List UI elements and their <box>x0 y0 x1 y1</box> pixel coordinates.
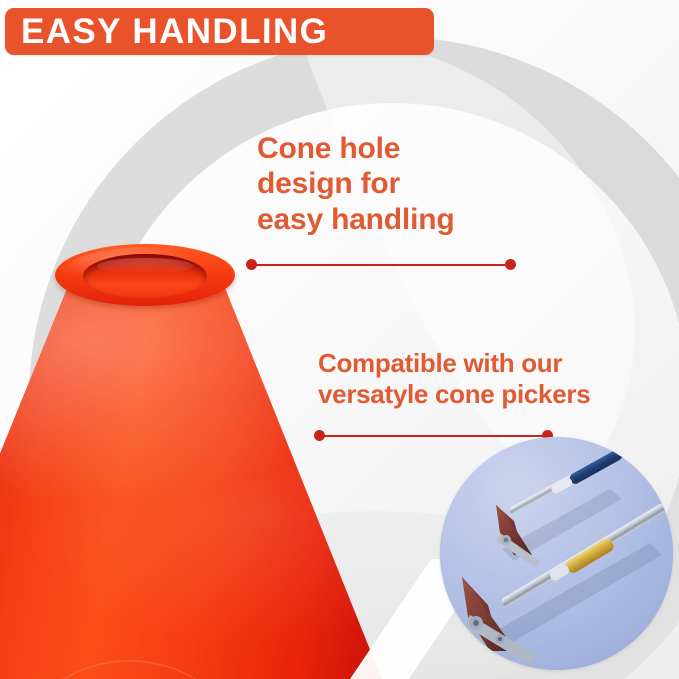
cone-picker-illustration <box>440 437 673 670</box>
cone-sheen <box>0 262 385 679</box>
cone-hole-gloss <box>97 258 193 274</box>
connector-line-pickers <box>316 430 551 442</box>
connector-dot-end <box>505 259 516 270</box>
connector-rule <box>248 264 514 266</box>
connector-rule <box>316 435 551 437</box>
header-banner-label: EASY HANDLING <box>5 14 328 49</box>
callout-cone-hole-design: Cone hole design for easy handling <box>257 131 454 237</box>
callout-line: design for <box>257 166 454 201</box>
callout-line: Compatible with our <box>318 348 590 379</box>
header-banner: EASY HANDLING <box>5 8 434 55</box>
callout-line: Cone hole <box>257 131 454 166</box>
connector-line-cone-hole <box>248 259 514 271</box>
callout-compatible-pickers: Compatible with our versatyle cone picke… <box>318 348 590 409</box>
product-infographic: EASY HANDLING Cone hole design for easy … <box>0 0 679 679</box>
connector-dot-start <box>314 430 325 441</box>
red-traffic-cone <box>0 240 385 679</box>
callout-line: easy handling <box>257 202 454 237</box>
inset-photo-cone-pickers <box>440 437 673 670</box>
callout-line: versatyle cone pickers <box>318 379 590 410</box>
connector-dot-start <box>246 259 257 270</box>
